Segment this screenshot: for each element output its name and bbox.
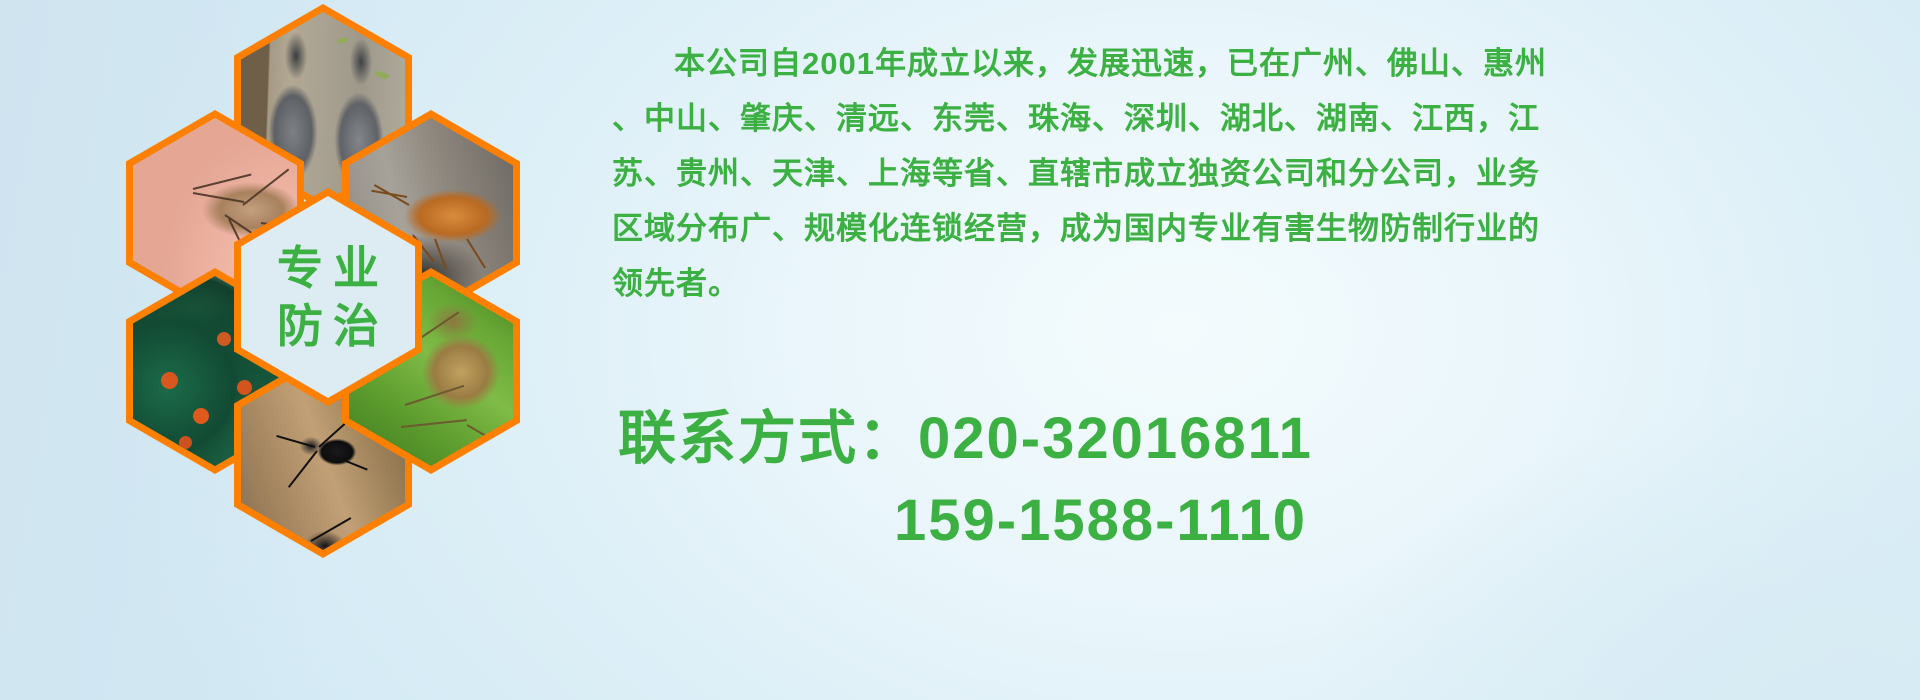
about-line: 区域分布广、规模化连锁经营，成为国内专业有害生物防制行业的 xyxy=(612,201,1892,256)
about-paragraph: 本公司自2001年成立以来，发展迅速，已在广州、佛山、惠州 、中山、肇庆、清远、… xyxy=(612,36,1892,311)
honeycomb-cluster: 专业 防治 xyxy=(86,0,606,588)
contact-block: 联系方式：020-32016811 159-1588-1110 xyxy=(618,398,1898,562)
about-line: 、中山、肇庆、清远、东莞、珠海、深圳、湖北、湖南、江西，江 xyxy=(612,91,1892,146)
hex-inner: 专业 防治 xyxy=(241,196,415,398)
about-line: 本公司自2001年成立以来，发展迅速，已在广州、佛山、惠州 xyxy=(612,36,1892,91)
about-line: 苏、贵州、天津、上海等省、直辖市成立独资公司和分公司，业务 xyxy=(612,146,1892,201)
contact-phone-mobile[interactable]: 159-1588-1110 xyxy=(618,480,1898,562)
slogan-line-2: 防治 xyxy=(267,302,389,350)
about-line: 领先者。 xyxy=(612,256,1892,311)
slogan-text: 专业 防治 xyxy=(241,196,415,398)
contact-phone-landline[interactable]: 联系方式：020-32016811 xyxy=(618,398,1898,480)
slogan-line-1: 专业 xyxy=(267,244,389,292)
banner-stage: 专业 防治 本公司自2001年成立以来，发展迅速，已在广州、佛山、惠州 、中山、… xyxy=(0,0,1920,700)
